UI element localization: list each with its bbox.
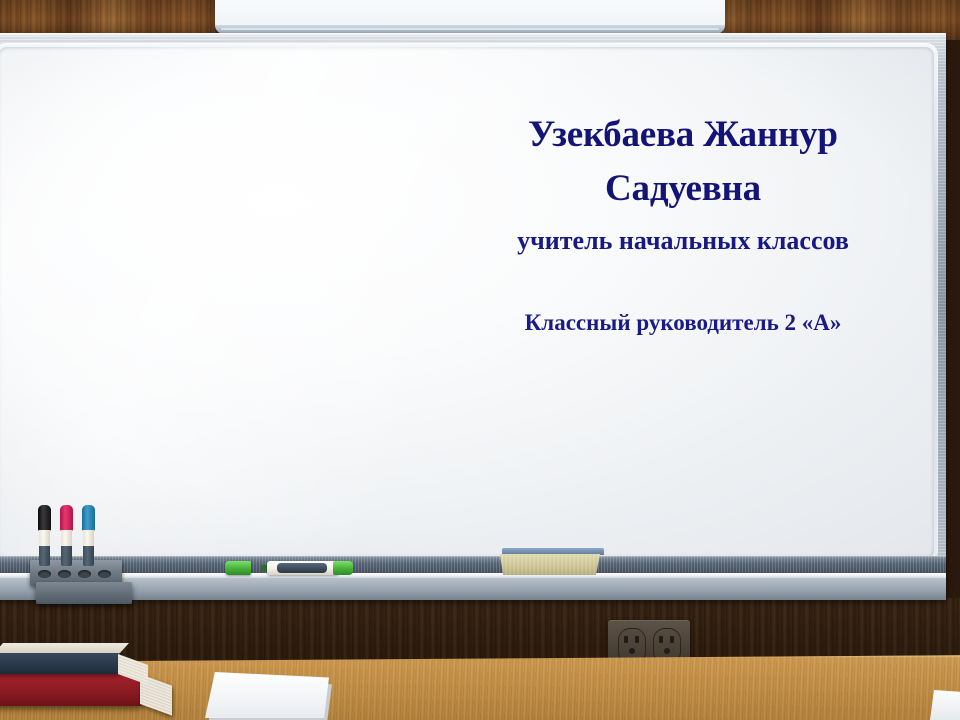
blue-marker-barrel xyxy=(83,530,94,547)
outlet-prong xyxy=(659,636,663,643)
outlet-ground xyxy=(664,648,670,654)
outlet-socket xyxy=(618,628,646,662)
pink-marker-barrel xyxy=(61,530,72,547)
outlet-prong xyxy=(624,636,628,643)
outlet-prong xyxy=(635,636,639,643)
book-stack[interactable] xyxy=(0,640,172,720)
red-book xyxy=(0,672,142,706)
slide-text-block: Узекбаева Жаннур Садуевна учитель началь… xyxy=(468,108,898,336)
teacher-role: учитель начальных классов xyxy=(468,225,898,257)
marker-holder-base xyxy=(36,582,132,604)
paper-top-sheet xyxy=(205,672,329,718)
black-marker-barrel xyxy=(39,530,50,547)
teacher-name-line-2: Садуевна xyxy=(468,162,898,216)
green-marker-end xyxy=(333,561,353,575)
pink-marker-body xyxy=(61,546,72,566)
green-marker-cap xyxy=(225,561,251,575)
green-marker-grip xyxy=(277,563,327,573)
eraser-felt xyxy=(502,548,604,555)
ledge-front-face xyxy=(0,578,946,600)
outlet-prong xyxy=(670,636,674,643)
paper-stack-right[interactable] xyxy=(930,690,960,720)
marker-holder-slot xyxy=(98,570,111,578)
whiteboard-ledge xyxy=(0,556,946,600)
outlet-socket xyxy=(653,628,681,662)
marker-holder-slot xyxy=(78,570,91,578)
teacher-name-line-1: Узекбаева Жаннур xyxy=(468,108,898,162)
eraser-body xyxy=(500,554,600,575)
pink-marker-cap xyxy=(60,505,73,531)
ledge-top-surface xyxy=(0,556,946,573)
upper-board-panel xyxy=(215,0,725,34)
black-marker-body xyxy=(39,546,50,566)
marker-holder-slot xyxy=(58,570,71,578)
outlet-ground xyxy=(629,648,635,654)
blue-marker-cap xyxy=(82,505,95,531)
black-marker-cap xyxy=(38,505,51,531)
blue-marker-body xyxy=(83,546,94,566)
classroom-slide: Узекбаева Жаннур Садуевна учитель началь… xyxy=(0,0,960,720)
class-supervisor-line: Классный руководитель 2 «А» xyxy=(468,309,898,337)
marker-holder-slot xyxy=(38,570,51,578)
blue-book xyxy=(0,652,120,674)
green-marker[interactable] xyxy=(225,560,355,576)
paper-stack[interactable] xyxy=(205,672,335,720)
blue-book-top-pages xyxy=(0,643,129,653)
whiteboard-eraser[interactable] xyxy=(500,548,604,575)
frame-top-highlight xyxy=(0,33,946,36)
